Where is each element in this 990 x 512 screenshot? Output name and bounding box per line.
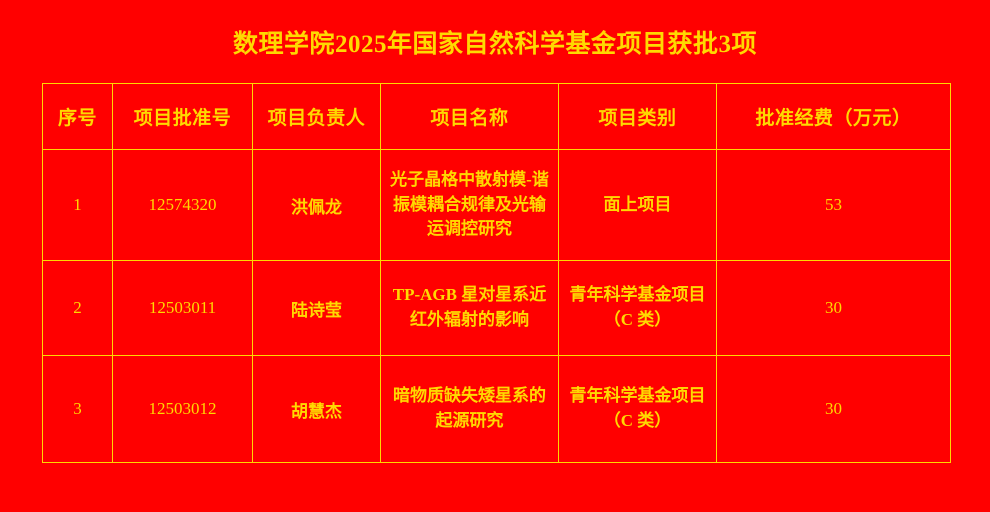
cell-leader: 陆诗莹	[253, 261, 381, 356]
grant-table: 序号 项目批准号 项目负责人 项目名称 项目类别 批准经费（万元） 1 1257…	[42, 83, 951, 463]
column-header-leader: 项目负责人	[253, 84, 381, 150]
column-header-no: 序号	[43, 84, 113, 150]
column-header-name: 项目名称	[381, 84, 559, 150]
cell-funding: 30	[717, 356, 951, 463]
document-page: 数理学院2025年国家自然科学基金项目获批3项 序号 项目批准号 项目负责人 项…	[0, 0, 990, 512]
cell-code: 12574320	[113, 150, 253, 261]
cell-leader: 胡慧杰	[253, 356, 381, 463]
cell-project-name: 光子晶格中散射模-谐振模耦合规律及光输运调控研究	[381, 150, 559, 261]
cell-no: 1	[43, 150, 113, 261]
table-row: 2 12503011 陆诗莹 TP-AGB 星对星系近红外辐射的影响 青年科学基…	[43, 261, 951, 356]
column-header-code: 项目批准号	[113, 84, 253, 150]
cell-no: 2	[43, 261, 113, 356]
table-row: 1 12574320 洪佩龙 光子晶格中散射模-谐振模耦合规律及光输运调控研究 …	[43, 150, 951, 261]
page-title: 数理学院2025年国家自然科学基金项目获批3项	[0, 24, 990, 60]
cell-code: 12503012	[113, 356, 253, 463]
table-row: 3 12503012 胡慧杰 暗物质缺失矮星系的起源研究 青年科学基金项目（C …	[43, 356, 951, 463]
cell-funding: 53	[717, 150, 951, 261]
column-header-category: 项目类别	[559, 84, 717, 150]
cell-leader: 洪佩龙	[253, 150, 381, 261]
cell-code: 12503011	[113, 261, 253, 356]
cell-funding: 30	[717, 261, 951, 356]
cell-no: 3	[43, 356, 113, 463]
grant-table-container: 序号 项目批准号 项目负责人 项目名称 项目类别 批准经费（万元） 1 1257…	[42, 83, 950, 457]
column-header-funding: 批准经费（万元）	[717, 84, 951, 150]
cell-category: 青年科学基金项目（C 类）	[559, 261, 717, 356]
cell-project-name: 暗物质缺失矮星系的起源研究	[381, 356, 559, 463]
cell-category: 面上项目	[559, 150, 717, 261]
cell-category: 青年科学基金项目（C 类）	[559, 356, 717, 463]
cell-project-name: TP-AGB 星对星系近红外辐射的影响	[381, 261, 559, 356]
table-header-row: 序号 项目批准号 项目负责人 项目名称 项目类别 批准经费（万元）	[43, 84, 951, 150]
